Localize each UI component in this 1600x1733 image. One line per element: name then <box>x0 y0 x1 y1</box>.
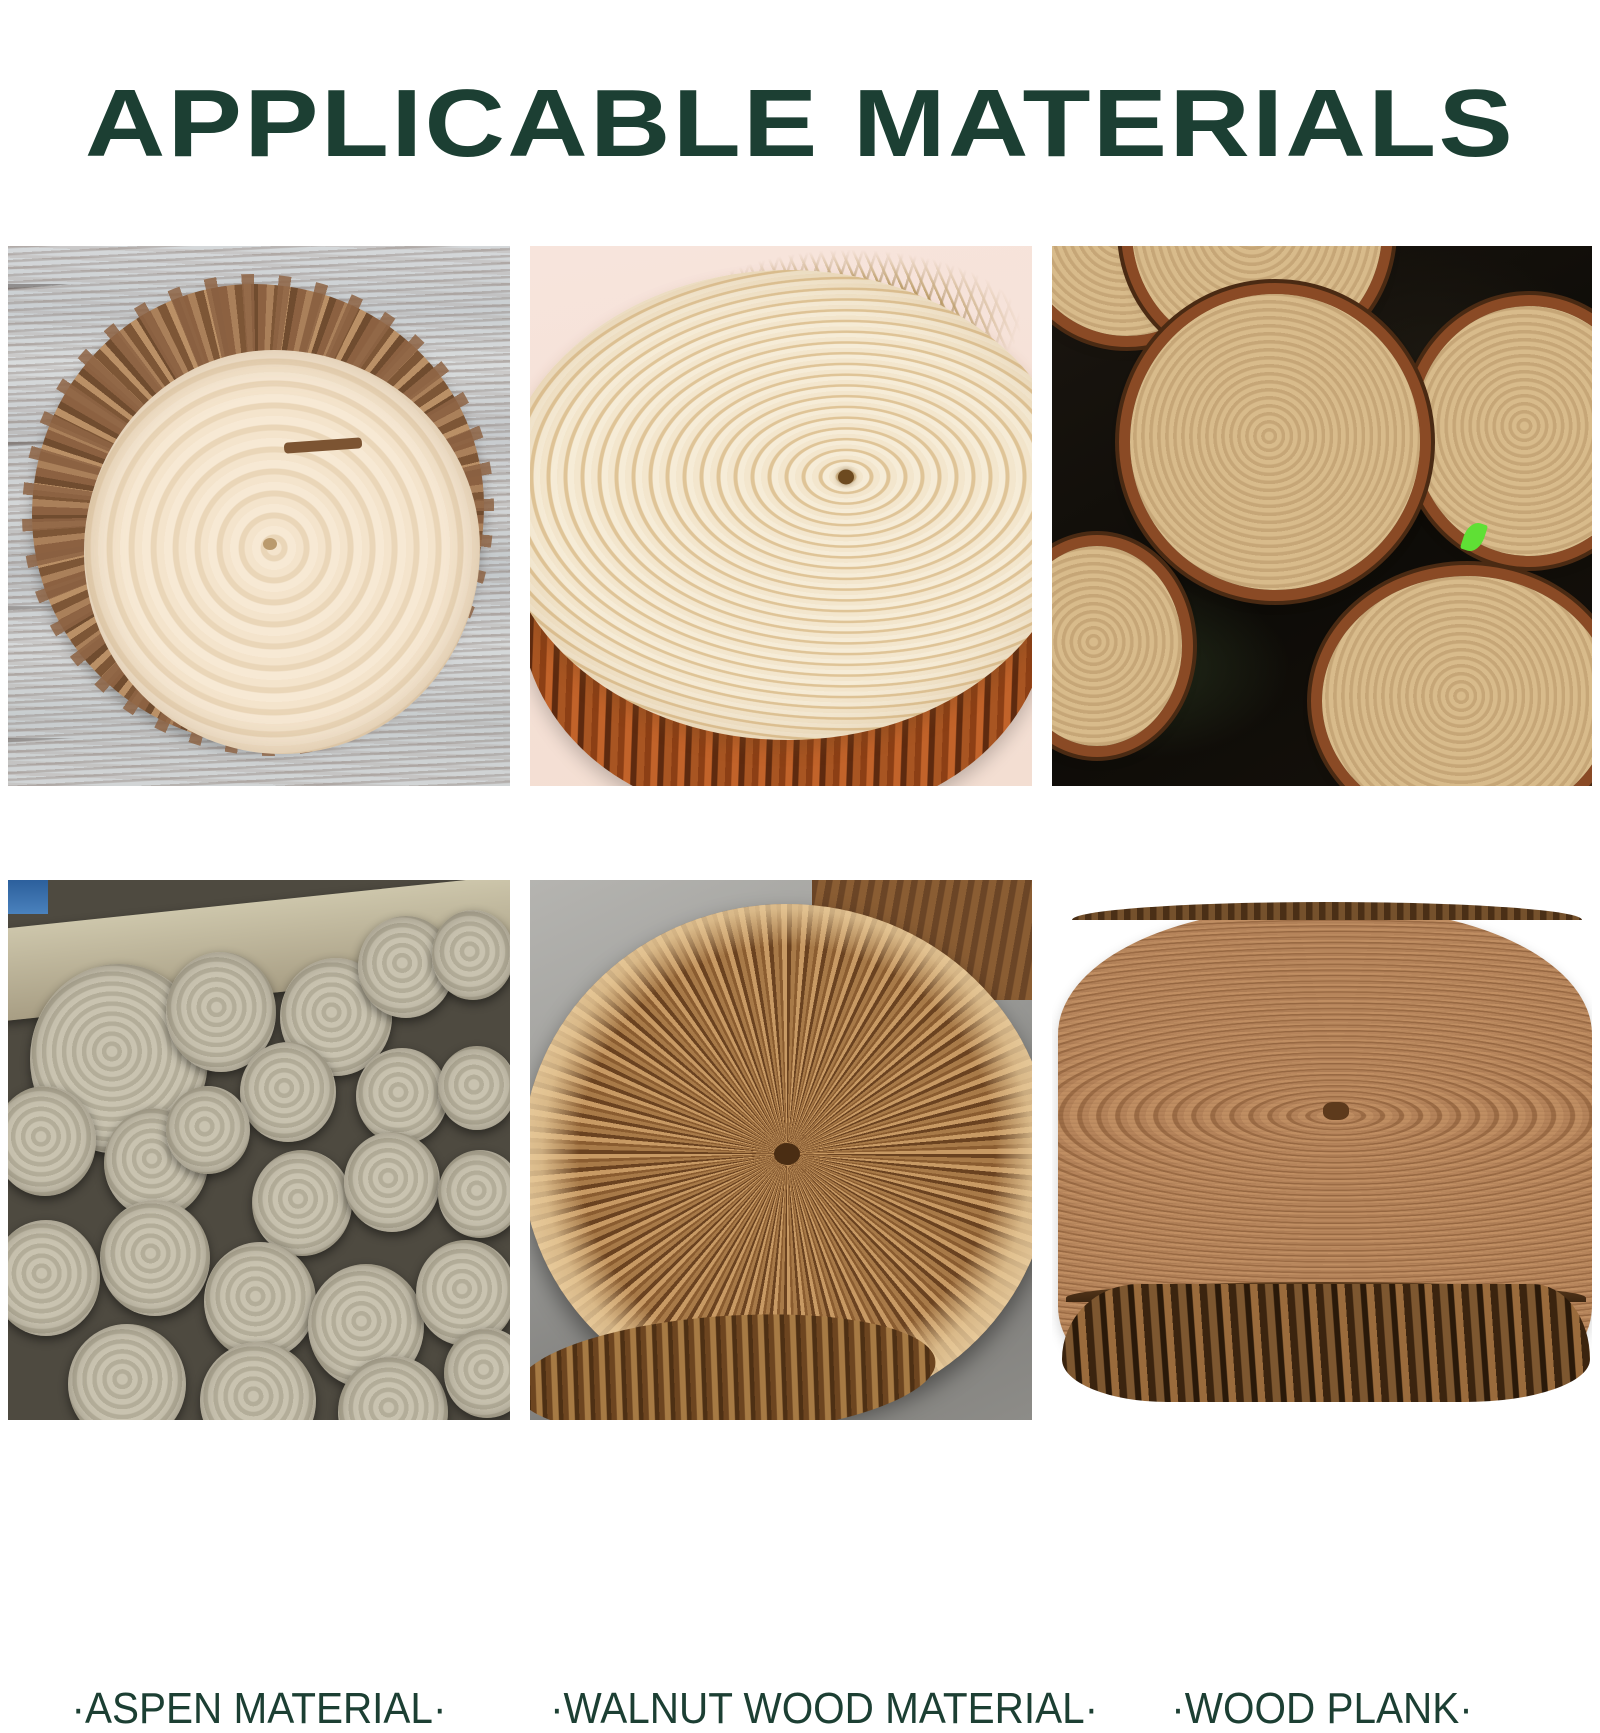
material-tile-birch-wood[interactable] <box>8 246 510 786</box>
plank-bark-band <box>1062 1284 1590 1402</box>
birch-bark-edge <box>32 284 484 746</box>
aspen-log-end <box>100 1200 210 1316</box>
page-title: APPLICABLE MATERIALS <box>0 78 1600 170</box>
aspen-log-end <box>356 1048 448 1144</box>
poplar-log-end <box>1130 294 1420 590</box>
poplar-photo <box>1052 246 1592 786</box>
grid-row-bottom <box>8 880 1592 1420</box>
aspen-log-end <box>252 1150 352 1256</box>
birch-pith <box>263 538 277 550</box>
birch-wood-photo <box>8 246 510 786</box>
caption-aspen-material: ·ASPEN MATERIAL· <box>28 1686 490 1732</box>
basswood-pith <box>838 469 854 484</box>
birch-bark-inclusion <box>284 437 363 453</box>
basswood-photo <box>530 246 1032 786</box>
material-tile-walnut-material[interactable] <box>530 880 1032 1420</box>
material-tile-wood-plank[interactable] <box>1052 880 1592 1420</box>
aspen-log-end <box>432 910 510 1000</box>
aspen-log-end <box>240 1042 336 1142</box>
grid-row-top <box>8 246 1592 786</box>
aspen-photo <box>8 880 510 1420</box>
caption-row-bottom: ·ASPEN MATERIAL· ·WALNUT WOOD MATERIAL· … <box>8 1686 1592 1732</box>
material-tile-aspen-material[interactable] <box>8 880 510 1420</box>
basswood-growth-rings <box>530 270 1032 740</box>
walnut-photo <box>530 880 1032 1420</box>
caption-wood-plank: ·WOOD PLANK· <box>1074 1686 1571 1732</box>
wood-plank-photo <box>1052 880 1592 1420</box>
material-tile-basswood-material[interactable] <box>530 246 1032 786</box>
sky-patch <box>8 880 48 914</box>
plank-pith <box>1323 1102 1349 1120</box>
material-tile-poplar-material[interactable] <box>1052 246 1592 786</box>
grid-gutter <box>1032 246 1052 786</box>
grid-gutter <box>1032 880 1052 1420</box>
aspen-log-end <box>344 1132 440 1232</box>
aspen-log-end <box>438 1046 510 1130</box>
birch-cut-face <box>84 350 480 754</box>
grid-gutter <box>510 246 530 786</box>
grid-gutter <box>510 880 530 1420</box>
materials-grid: ·BIRCH WOOD· ·BASSWOOD MATERIAL· ·POPLAR… <box>8 246 1592 1420</box>
aspen-log-end <box>166 1086 250 1174</box>
walnut-pith <box>774 1143 800 1165</box>
caption-walnut-wood-material: ·WALNUT WOOD MATERIAL· <box>550 1686 1012 1732</box>
